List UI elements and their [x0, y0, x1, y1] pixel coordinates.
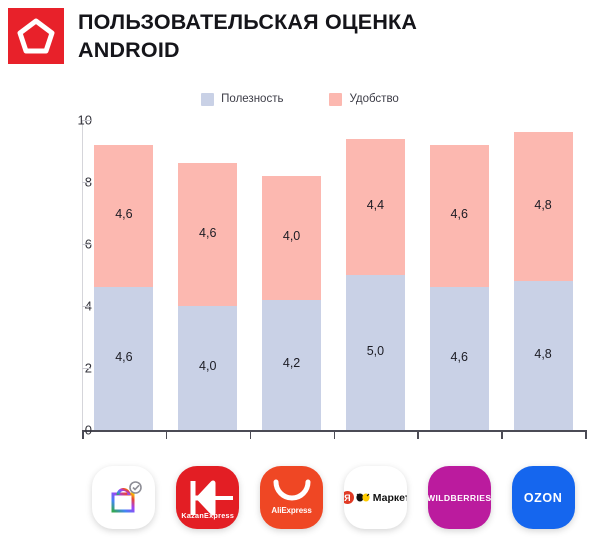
logo-text-ozon: OZON [524, 491, 563, 505]
smile-bag-icon [272, 479, 312, 507]
bar-segment-udobstvo[interactable]: 4,6 [430, 145, 489, 288]
bar-segment-polezn[interactable]: 4,8 [514, 281, 573, 430]
page-title-line-1: ПОЛЬЗОВАТЕЛЬСКАЯ ОЦЕНКА [78, 9, 417, 37]
bar-segment-polezn[interactable]: 5,0 [346, 275, 405, 430]
logo-text-aliexpress: AliExpress [260, 506, 323, 515]
bar-segment-polezn[interactable]: 4,0 [178, 306, 237, 430]
legend-swatch-udobstvo [329, 93, 342, 106]
chart-area: 0246810 4,64,64,64,04,04,24,45,04,64,64,… [0, 112, 600, 472]
legend-item-polezn[interactable]: Полезность [201, 93, 283, 106]
bar-value-label: 4,4 [367, 198, 384, 212]
bar-group[interactable]: 4,04,2 [262, 176, 321, 430]
bar-value-label: 5,0 [367, 344, 384, 358]
bar-segment-udobstvo[interactable]: 4,6 [178, 163, 237, 306]
logo-tile-wildberries[interactable]: WILDBERRIES [428, 466, 491, 529]
rainbow-bag-icon [102, 476, 146, 520]
pentagon-icon [16, 16, 56, 56]
page-header: ПОЛЬЗОВАТЕЛЬСКАЯ ОЦЕНКА ANDROID [0, 0, 600, 72]
bar-value-label: 4,0 [283, 229, 300, 243]
x-axis-tick-mark [585, 430, 587, 439]
legend-item-udobstvo[interactable]: Удобство [329, 93, 398, 106]
bar-segment-polezn[interactable]: 4,2 [262, 300, 321, 430]
bar-value-label: 4,6 [115, 207, 132, 221]
logo-tile-ozon[interactable]: OZON [512, 466, 575, 529]
bar-segment-udobstvo[interactable]: 4,4 [346, 139, 405, 275]
bar-value-label: 4,8 [534, 347, 551, 361]
x-axis-tick-mark [166, 430, 168, 439]
bee-icon [356, 491, 371, 504]
x-axis-tick-mark [82, 430, 84, 439]
legend-swatch-polezn [201, 93, 214, 106]
logo-text-yandex-market: Маркет [373, 492, 407, 504]
logo-tile-aliexpress[interactable]: AliExpress [260, 466, 323, 529]
bar-group[interactable]: 4,45,0 [346, 139, 405, 430]
bar-segment-udobstvo[interactable]: 4,6 [94, 145, 153, 288]
category-logo-row: KazanExpressAliExpressЯМаркетWILDBERRIES… [82, 466, 585, 536]
bar-value-label: 4,6 [451, 207, 468, 221]
logo-text-wildberries: WILDBERRIES [428, 493, 491, 503]
bar-value-label: 4,6 [451, 350, 468, 364]
bar-segment-polezn[interactable]: 4,6 [94, 287, 153, 430]
x-axis-tick-mark [417, 430, 419, 439]
bar-group[interactable]: 4,84,8 [514, 132, 573, 430]
chart-legend: Полезность Удобство [0, 86, 600, 112]
bar-value-label: 4,6 [115, 350, 132, 364]
x-axis-tick-mark [501, 430, 503, 439]
bar-segment-polezn[interactable]: 4,6 [430, 287, 489, 430]
x-axis-tick-mark [250, 430, 252, 439]
yandex-market-lockup: ЯМаркет [344, 491, 407, 504]
brand-logo-badge [8, 8, 64, 64]
bar-segment-udobstvo[interactable]: 4,8 [514, 132, 573, 281]
logo-tile-yandex-market[interactable]: ЯМаркет [344, 466, 407, 529]
bar-value-label: 4,2 [283, 356, 300, 370]
page-title-line-2: ANDROID [78, 37, 417, 65]
bar-value-label: 4,8 [534, 198, 551, 212]
logo-tile-kazanexpress[interactable]: KazanExpress [176, 466, 239, 529]
page-title: ПОЛЬЗОВАТЕЛЬСКАЯ ОЦЕНКА ANDROID [78, 8, 417, 64]
x-axis-tick-mark [334, 430, 336, 439]
yandex-ya-icon: Я [344, 491, 354, 504]
logo-text-kazanexpress: KazanExpress [176, 511, 239, 520]
bar-value-label: 4,0 [199, 359, 216, 373]
bar-series-container: 4,64,64,64,04,04,24,45,04,64,64,84,8 [82, 120, 585, 430]
bar-group[interactable]: 4,64,0 [178, 163, 237, 430]
bar-group[interactable]: 4,64,6 [430, 145, 489, 430]
bar-value-label: 4,6 [199, 226, 216, 240]
legend-label-polezn: Полезность [221, 93, 283, 105]
logo-tile-google-play[interactable] [92, 466, 155, 529]
bar-group[interactable]: 4,64,6 [94, 145, 153, 430]
legend-label-udobstvo: Удобство [349, 93, 398, 105]
bar-segment-udobstvo[interactable]: 4,0 [262, 176, 321, 300]
